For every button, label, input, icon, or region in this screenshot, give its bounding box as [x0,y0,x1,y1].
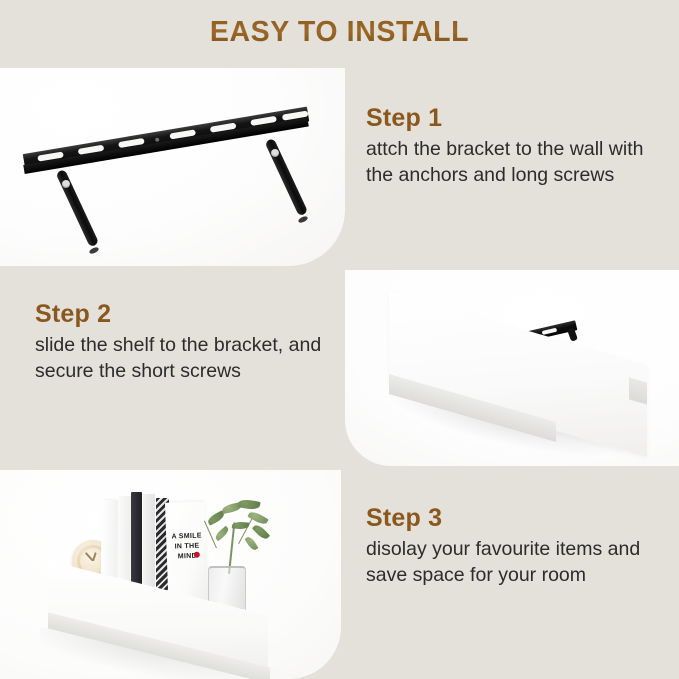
step-2-text: Step 2 slide the shelf to the bracket, a… [35,300,325,384]
step-3-heading: Step 3 [366,504,671,533]
step-1-text: Step 1 attch the bracket to the wall wit… [366,104,666,188]
bracket-rod-cap-left [88,246,99,255]
step-3-body: disolay your favourite items and save sp… [366,537,671,588]
plant-leaf [247,510,268,527]
promo-infographic: EASY TO INSTALL [0,0,679,679]
page-title: EASY TO INSTALL [0,16,679,49]
step-2-body: slide the shelf to the bracket, and secu… [35,333,325,384]
plant-leaf [252,523,270,542]
bracket-rod-cap-right [297,215,308,224]
step-1-image-panel [0,68,345,266]
step-3-text: Step 3 disolay your favourite items and … [366,504,671,588]
plant-leaf [237,498,260,511]
bracket-screw-right [271,149,279,157]
styled-shelf-illustration: A SMILE IN THE MIND [0,470,341,679]
plant-leaf [214,526,231,542]
bracket-slot [542,327,558,334]
bracket-screw-left [62,180,70,188]
step-3-image-panel: A SMILE IN THE MIND [0,470,341,679]
step-2-heading: Step 2 [35,300,325,329]
wall-bracket-illustration [0,68,345,266]
step-1-body: attch the bracket to the wall with the a… [366,137,666,188]
floating-shelf-illustration [345,270,679,466]
step-1-heading: Step 1 [366,104,666,133]
step-2-image-panel [345,270,679,466]
plant-leaf [245,535,259,551]
